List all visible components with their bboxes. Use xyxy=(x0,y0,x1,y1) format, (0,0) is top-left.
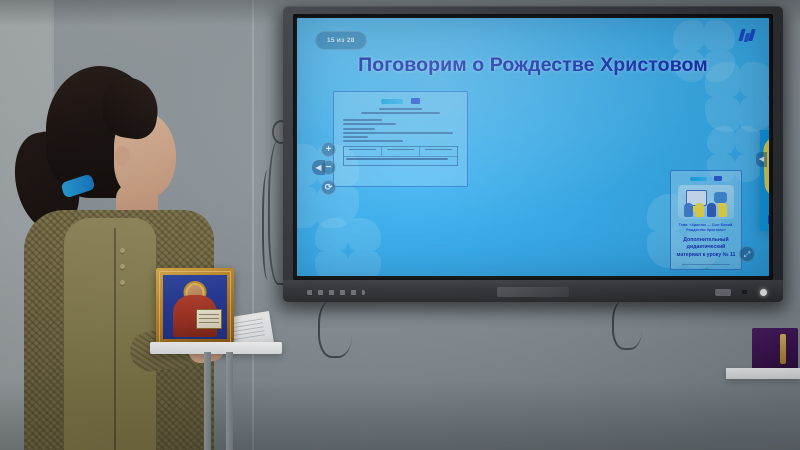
interactive-display[interactable]: 15 из 28 Поговорим о Рождестве Христовом xyxy=(283,6,783,302)
reset-view-button[interactable]: ⟳ xyxy=(321,180,336,195)
vest-seam xyxy=(114,228,116,450)
cover-page-number xyxy=(768,215,769,224)
shelf-object xyxy=(752,328,798,370)
display-ports xyxy=(307,290,365,295)
material-brand-icon xyxy=(690,177,707,181)
doc-body-block xyxy=(343,119,458,142)
doc-logo-icon xyxy=(411,98,420,104)
material-logo-icon xyxy=(714,176,722,181)
religious-icon-frame xyxy=(156,268,234,346)
table-leg xyxy=(226,352,233,450)
icon-artwork xyxy=(163,275,227,339)
screenshot-root: 15 из 28 Поговорим о Рождестве Христовом xyxy=(0,0,800,450)
display-brand-logo-icon xyxy=(497,287,569,297)
slide-page-badge: 15 из 28 xyxy=(315,31,367,50)
fullscreen-button[interactable]: ⤢ xyxy=(739,246,755,262)
slide-title: Поговорим о Рождестве Христовом xyxy=(297,54,769,77)
wall-shelf xyxy=(726,368,800,379)
additional-material-thumbnail[interactable]: Тема: «Христос — Сын Божий. Рождество Хр… xyxy=(670,170,742,270)
material-divider xyxy=(682,264,730,265)
display-screen[interactable]: 15 из 28 Поговорим о Рождестве Христовом xyxy=(297,18,769,276)
button-icon xyxy=(120,248,125,253)
ear xyxy=(115,146,130,166)
presenter xyxy=(10,60,225,450)
cover-shape-yellow-icon xyxy=(763,135,769,198)
platform-logo-icon xyxy=(738,27,755,42)
lesson-plan-thumbnail[interactable] xyxy=(333,91,468,187)
button-icon xyxy=(120,264,125,269)
doc-table xyxy=(343,146,458,166)
doc-brand-icon xyxy=(381,99,403,104)
open-book-icon xyxy=(196,309,222,329)
material-title: Дополнительный дидактический материал к … xyxy=(676,237,736,260)
ir-receiver-icon xyxy=(715,289,731,296)
white-table xyxy=(150,342,282,354)
doc-title-block xyxy=(343,108,458,114)
sensor-icon xyxy=(742,290,747,294)
table-leg xyxy=(204,352,211,450)
left-panel-handle[interactable]: ◀ xyxy=(312,160,325,175)
button-icon xyxy=(120,280,125,285)
power-led-icon xyxy=(760,289,767,296)
right-panel-handle[interactable]: ◀ xyxy=(756,152,767,167)
display-chin xyxy=(283,280,783,302)
decor-clover-icon xyxy=(315,218,381,276)
material-illustration xyxy=(678,185,734,219)
zoom-in-button[interactable]: + xyxy=(321,142,336,157)
material-status-dot-icon xyxy=(703,268,710,270)
presentation-cover-card[interactable]: Тема: «Христос — Сын Божий. Рождество Хр… xyxy=(760,130,769,231)
material-subject-line: Тема: «Христос — Сын Божий. Рождество Хр… xyxy=(676,223,736,234)
material-header xyxy=(676,176,736,181)
doc-header xyxy=(343,98,458,104)
